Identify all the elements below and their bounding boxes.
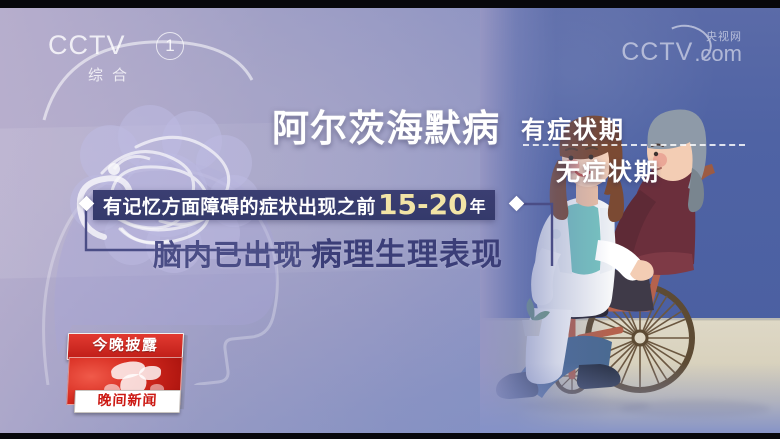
channel-subtitle: 综合 [88,64,136,85]
banner-unit: 年 [470,193,486,217]
label-asymptomatic-phase: 无症状期 [556,152,660,187]
broadcast-frame: CCTV 1 综合 央视网 CCTV .com 阿尔茨海默病 有症状期 无症状期… [0,0,780,439]
news-program-bug: 今晚披露 晚间新闻 [56,333,185,411]
cctv1-logo: CCTV 1 综合 [48,30,218,86]
letterbox-bottom [0,433,780,439]
bug-bottom-banner: 晚间新闻 [74,390,181,413]
bug-top-label: 今晚披露 [68,334,183,357]
page-title: 阿尔茨海默病 [272,98,500,152]
highlight-banner: 有记忆方面障碍的症状出现之前 15-20 年 [93,190,495,220]
subheadline-part1: 脑内已出现 [153,232,303,274]
letterbox-top [0,0,780,8]
channel-number: 1 [156,32,184,60]
banner-number: 15-20 [378,191,468,219]
watermark-zh-text: 央视网 [706,28,742,44]
label-symptomatic-phase: 有症状期 [521,110,625,145]
illustration-bottom-fade [480,363,780,433]
subheadline-part2: 病理生理表现 [311,229,503,274]
cctv-com-watermark: 央视网 CCTV .com [621,38,742,67]
bug-top-banner: 今晚披露 [67,333,184,360]
cctv-logo-text: CCTV [48,30,126,61]
bug-bottom-label: 晚间新闻 [75,391,180,410]
banner-prefix-text: 有记忆方面障碍的症状出现之前 [103,192,376,219]
subheadline: 脑内已出现 病理生理表现 [153,229,503,274]
